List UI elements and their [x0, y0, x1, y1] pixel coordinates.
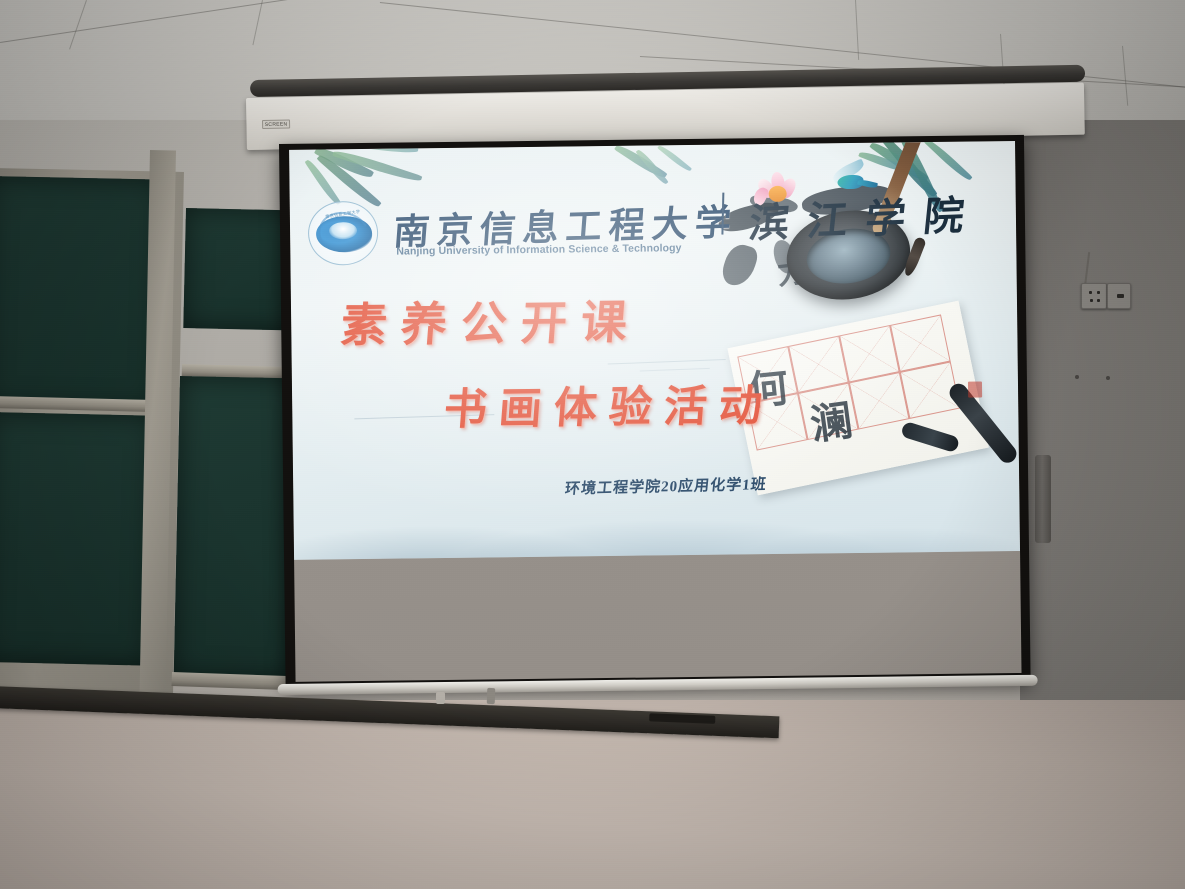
projected-slide: 何 澜 力 — [289, 141, 1020, 560]
slide-title-line-2: 书画体验活动 — [442, 371, 777, 437]
slide-title-line-1: 素养公开课 — [339, 286, 644, 356]
seal-stamp — [968, 381, 982, 397]
bamboo-leaf — [657, 143, 692, 173]
classroom-photo-scene: SCREEN — [0, 0, 1185, 889]
tray-item[interactable] — [649, 713, 715, 724]
wall-mark — [1075, 375, 1079, 379]
wall-power-outlet[interactable] — [1081, 283, 1107, 309]
wall-mounted-hook — [1035, 455, 1051, 543]
wall-mark — [1106, 376, 1110, 380]
wall-power-switch[interactable] — [1107, 283, 1131, 309]
chalk-piece[interactable] — [487, 688, 496, 704]
screen-brand-label: SCREEN — [262, 119, 290, 129]
screen-surface: 何 澜 力 — [289, 141, 1021, 682]
projector-screen[interactable]: 何 澜 力 — [279, 135, 1031, 690]
nuist-logo: 南京信息工程大学 — [308, 201, 379, 266]
mist-line — [608, 359, 726, 365]
blackboard-panel — [0, 412, 154, 666]
college-name-cn: 滨江学院 — [747, 182, 986, 249]
blackboard-panel — [0, 176, 162, 410]
eraser[interactable] — [436, 692, 445, 704]
university-name-en: Nanjing University of Information Scienc… — [396, 242, 681, 257]
